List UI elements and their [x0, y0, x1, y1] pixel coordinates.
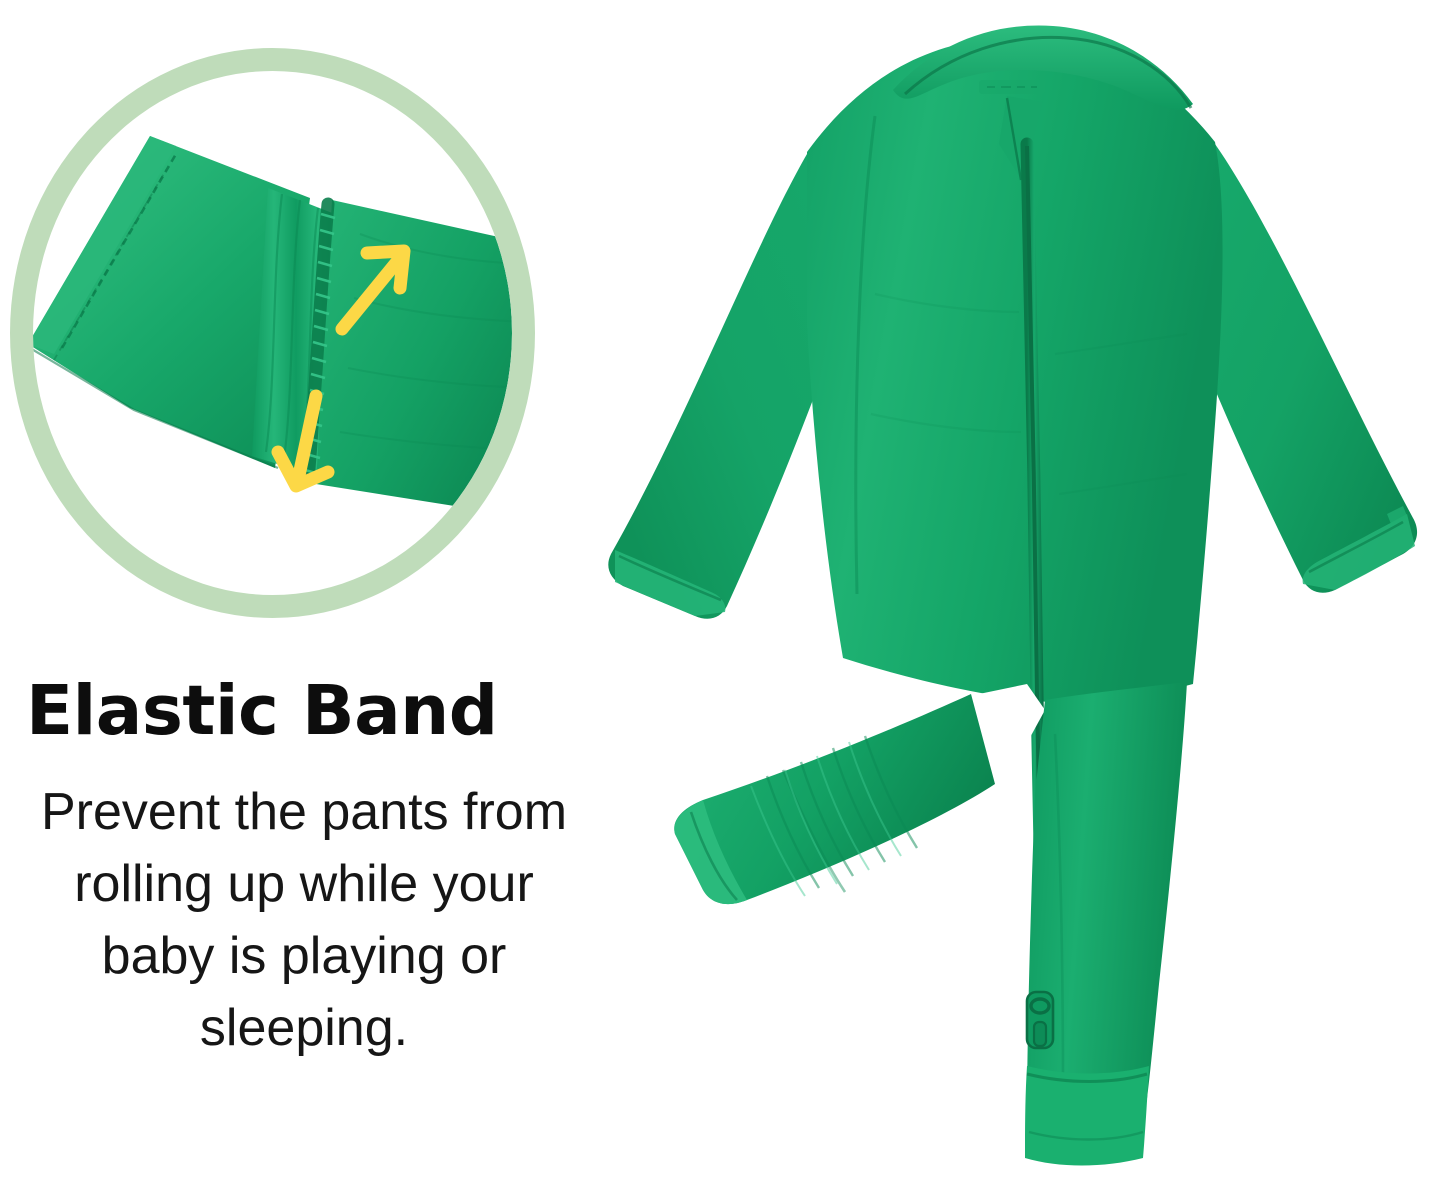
- infographic-canvas: Elastic Band Prevent the pants from roll…: [0, 0, 1445, 1168]
- romper-illustration: [575, 0, 1445, 1174]
- description-line-3: baby is playing or: [4, 920, 604, 992]
- description-line-2: rolling up while your: [4, 848, 604, 920]
- left-panel: Elastic Band Prevent the pants from roll…: [0, 0, 620, 1168]
- page-title: Elastic Band: [0, 672, 612, 750]
- cuff-panel-right: [316, 200, 512, 518]
- product-photo-romper: [575, 0, 1445, 1174]
- description-line-4: sleeping.: [4, 992, 604, 1064]
- feature-description: Prevent the pants from rolling up while …: [0, 776, 612, 1064]
- zipper-pull: [1027, 992, 1053, 1048]
- elastic-band-detail-inset: [10, 48, 535, 618]
- neck-tag: [979, 80, 1045, 94]
- description-line-1: Prevent the pants from: [4, 776, 604, 848]
- detail-photo-clip: [33, 71, 512, 595]
- cuff-closeup-illustration: [33, 71, 512, 595]
- leg-right: [1027, 682, 1187, 1125]
- feature-text-block: Elastic Band Prevent the pants from roll…: [0, 672, 612, 1064]
